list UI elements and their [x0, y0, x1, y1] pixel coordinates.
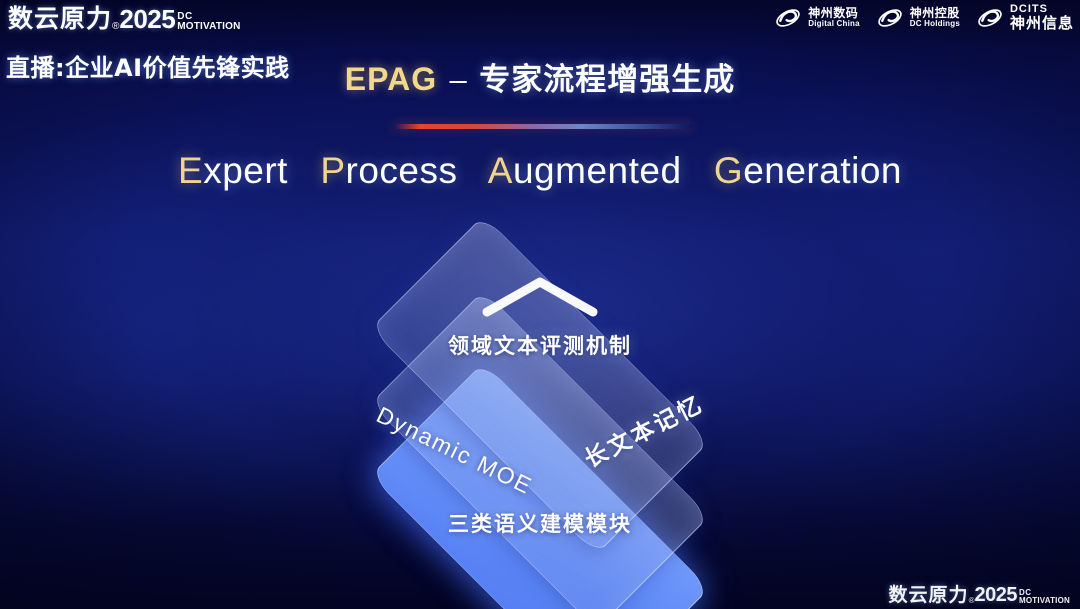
brand-logo-watermark: 数云原力 ® 2025 DC MOTIVATION [889, 585, 1070, 605]
watermark-tagline: DC MOTIVATION [1019, 589, 1070, 605]
watermark-name-cn: 数云原力 [889, 585, 969, 605]
chevron-up-icon [481, 274, 599, 318]
presentation-slide: 数云原力 ® 2025 DC MOTIVATION 直播:企业AI价值先锋实践 … [0, 0, 1080, 609]
diagram-label-bottom: 三类语义建模模块 [0, 508, 1080, 538]
diagram-label-top: 领域文本评测机制 [0, 330, 1080, 360]
watermark-year: 2025 [974, 585, 1017, 605]
watermark-tagline-line2: MOTIVATION [1019, 597, 1070, 605]
layered-architecture-diagram: 三类语义建模模块 Dynamic MOE 长文本记忆 领域文本评测机制 [0, 0, 1080, 609]
